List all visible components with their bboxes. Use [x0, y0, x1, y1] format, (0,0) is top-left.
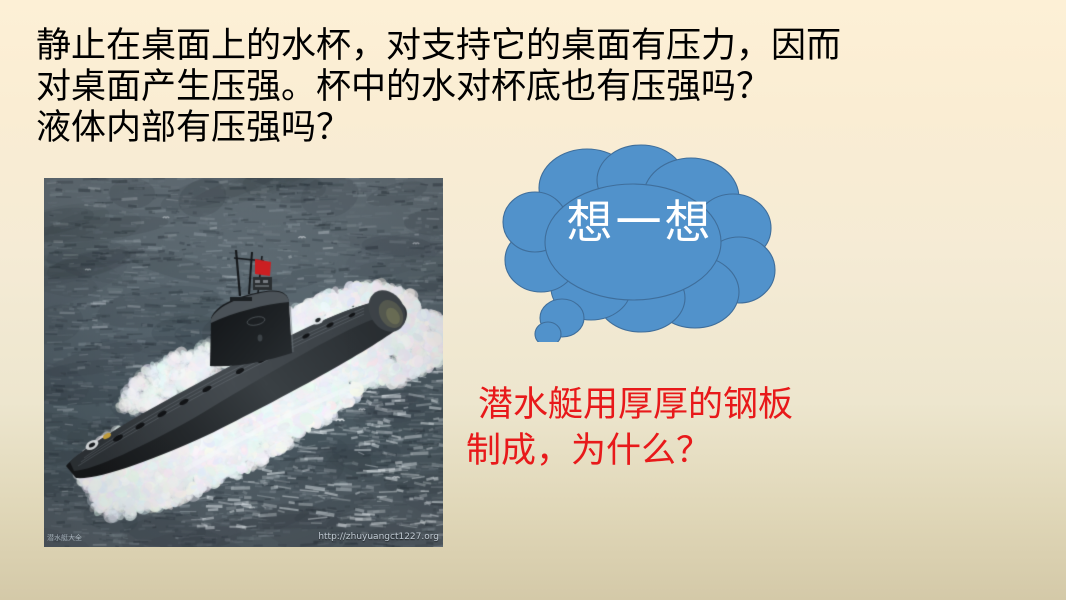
- question-text: 静止在桌面上的水杯，对支持它的桌面有压力，因而 对桌面产生压强。杯中的水对杯底也…: [36, 26, 1016, 149]
- red-caption-line-1: 潜水艇用厚厚的钢板: [466, 382, 896, 428]
- question-line-2: 对桌面产生压强。杯中的水对杯底也有压强吗？: [36, 67, 1016, 108]
- slide-canvas: 静止在桌面上的水杯，对支持它的桌面有压力，因而 对桌面产生压强。杯中的水对杯底也…: [0, 0, 1066, 600]
- thought-cloud-label: 想一想: [495, 194, 785, 250]
- red-caption: 潜水艇用厚厚的钢板 制成，为什么？: [466, 382, 896, 474]
- photo-watermark-left: 潜水艇大全: [47, 533, 82, 543]
- thought-cloud-bubble: 想一想: [495, 142, 785, 342]
- photo-watermark-right: http://zhuyuangct1227.org: [318, 532, 439, 542]
- submarine-photo-image: [44, 178, 443, 547]
- question-line-1: 静止在桌面上的水杯，对支持它的桌面有压力，因而: [36, 26, 1016, 67]
- red-caption-line-2: 制成，为什么？: [466, 428, 896, 474]
- submarine-photo: 潜水艇大全 http://zhuyuangct1227.org: [44, 178, 443, 547]
